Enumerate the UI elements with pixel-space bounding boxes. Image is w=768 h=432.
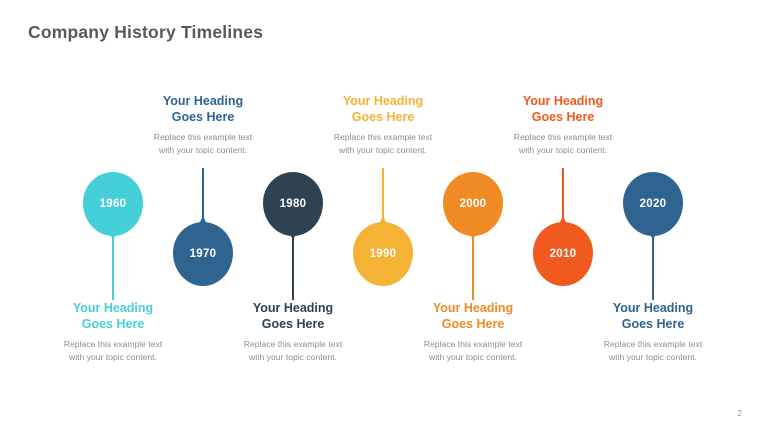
timeline-diagram: 1960Your HeadingGoes HereReplace this ex…	[0, 0, 768, 432]
timeline-body-line1: Replace this example text	[604, 339, 702, 349]
timeline-heading-2020: Your HeadingGoes Here	[563, 300, 743, 332]
timeline-year-label: 2020	[640, 198, 667, 210]
timeline-body-line2: with your topic content.	[563, 351, 743, 364]
timeline-heading-line2: Goes Here	[563, 316, 743, 332]
page-number: 2	[737, 408, 742, 418]
timeline-item-2020[interactable]: 2020Your HeadingGoes HereReplace this ex…	[563, 0, 743, 432]
slide-canvas: Company History Timelines 1960Your Headi…	[0, 0, 768, 432]
timeline-body-2020: Replace this example textwith your topic…	[563, 338, 743, 363]
timeline-year-bubble-2020[interactable]: 2020	[623, 172, 683, 236]
timeline-text-block-2020: Your HeadingGoes HereReplace this exampl…	[563, 300, 743, 363]
timeline-heading-line1: Your Heading	[613, 301, 693, 315]
